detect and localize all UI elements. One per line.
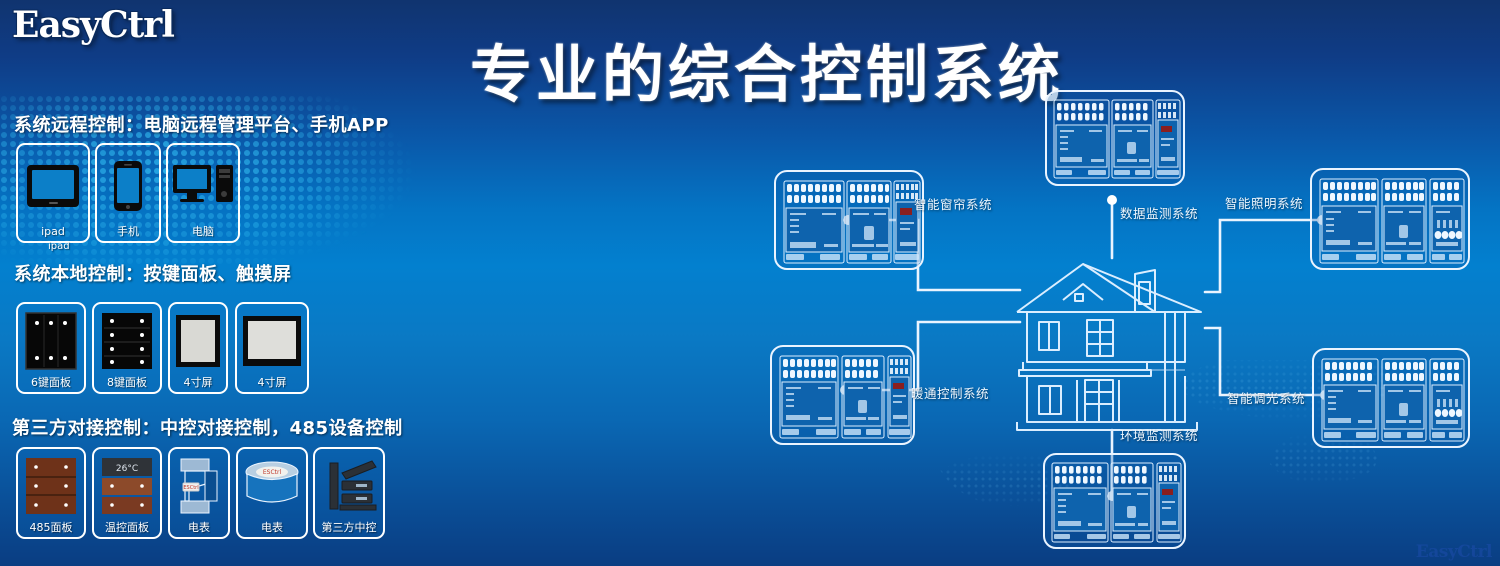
device-card-label: 第三方中控 — [322, 521, 377, 534]
desktop-computer-icon — [168, 151, 238, 221]
breaker-meter-icon: ESCtrl — [170, 455, 228, 517]
node-label-hvac: 暖通控制系统 — [911, 383, 989, 402]
thermostat-panel-icon: 26°C — [94, 455, 160, 517]
device-card-breaker-meter[interactable]: ESCtrl 电表 — [168, 447, 230, 539]
device-card-label: 电表 — [261, 521, 283, 534]
controller-module-art — [776, 172, 924, 270]
device-card-label: 温控面板 — [105, 521, 149, 534]
four-inch-screen-icon — [170, 310, 226, 372]
device-card-label: 电脑 — [192, 225, 214, 238]
device-card-ipad[interactable]: ipad — [16, 143, 90, 243]
device-card-8key-panel[interactable]: 8键面板 — [92, 302, 162, 394]
villa-house-icon — [1005, 250, 1215, 440]
device-module-hvac[interactable] — [770, 345, 915, 445]
device-card-label: 4寸屏 — [184, 376, 213, 389]
device-card-6key-panel[interactable]: 6键面板 — [16, 302, 86, 394]
section-title-third-party: 第三方对接控制：中控对接控制，485设备控制 — [12, 414, 403, 440]
rs485-panel-icon — [18, 455, 84, 517]
system-topology-diagram: 智能窗帘系统 数据监测系统 智能照明系统 暖通控制系统 智能调光系统 环境监测系… — [700, 60, 1500, 566]
brand-logo: EasyCtrl — [12, 4, 174, 46]
eight-key-panel-icon — [94, 310, 160, 372]
controller-module-art — [1047, 92, 1185, 186]
device-module-data[interactable] — [1045, 90, 1185, 186]
device-card-label: 4寸屏 — [258, 376, 287, 389]
device-card-label: 485面板 — [30, 521, 73, 534]
ipad-caption: ipad — [48, 241, 70, 252]
device-card-label: 手机 — [117, 225, 139, 238]
svg-text:ESCtrl: ESCtrl — [183, 485, 198, 491]
device-card-thermostat-panel[interactable]: 26°C 温控面板 — [92, 447, 162, 539]
third-party-controller-icon — [315, 455, 383, 517]
poster-canvas: EasyCtrl 专业的综合控制系统 系统远程控制：电脑远程管理平台、手机APP — [0, 0, 1500, 566]
device-module-lighting[interactable] — [1310, 168, 1470, 270]
section-title-local-control: 系统本地控制：按键面板、触摸屏 — [14, 260, 292, 286]
svg-text:26°C: 26°C — [116, 464, 138, 474]
device-card-round-meter[interactable]: ESCtrl 电表 — [236, 447, 308, 539]
controller-module-art — [1314, 350, 1470, 448]
device-card-label: 6键面板 — [31, 376, 71, 389]
controller-module-art — [1312, 170, 1470, 270]
node-label-lighting: 智能照明系统 — [1225, 193, 1303, 212]
node-label-environment: 环境监测系统 — [1120, 425, 1198, 444]
six-key-panel-icon — [18, 310, 84, 372]
smartphone-icon — [97, 151, 159, 221]
device-module-environment[interactable] — [1043, 453, 1186, 549]
device-module-dimming[interactable] — [1312, 348, 1470, 448]
device-card-phone[interactable]: 手机 — [95, 143, 161, 243]
section-title-remote-control: 系统远程控制：电脑远程管理平台、手机APP — [14, 111, 389, 137]
device-card-4inch-screen[interactable]: 4寸屏 — [168, 302, 228, 394]
four-inch-screen-wide-icon — [237, 310, 307, 372]
device-card-third-party-controller[interactable]: 第三方中控 — [313, 447, 385, 539]
node-label-data: 数据监测系统 — [1120, 203, 1198, 222]
watermark: EasyCtrl — [1416, 542, 1492, 562]
device-card-4inch-screen-wide[interactable]: 4寸屏 — [235, 302, 309, 394]
controller-module-art — [772, 347, 915, 445]
tablet-icon — [18, 151, 88, 221]
device-card-label: 8键面板 — [107, 376, 147, 389]
device-card-485-panel[interactable]: 485面板 — [16, 447, 86, 539]
device-card-computer[interactable]: 电脑 — [166, 143, 240, 243]
svg-text:ESCtrl: ESCtrl — [263, 469, 282, 476]
node-label-dimming: 智能调光系统 — [1227, 388, 1305, 407]
device-card-label: 电表 — [188, 521, 210, 534]
device-module-curtain[interactable] — [774, 170, 924, 270]
round-meter-icon: ESCtrl — [238, 455, 306, 517]
node-label-curtain: 智能窗帘系统 — [914, 194, 992, 213]
controller-module-art — [1045, 455, 1186, 549]
device-card-label: ipad — [41, 225, 65, 238]
